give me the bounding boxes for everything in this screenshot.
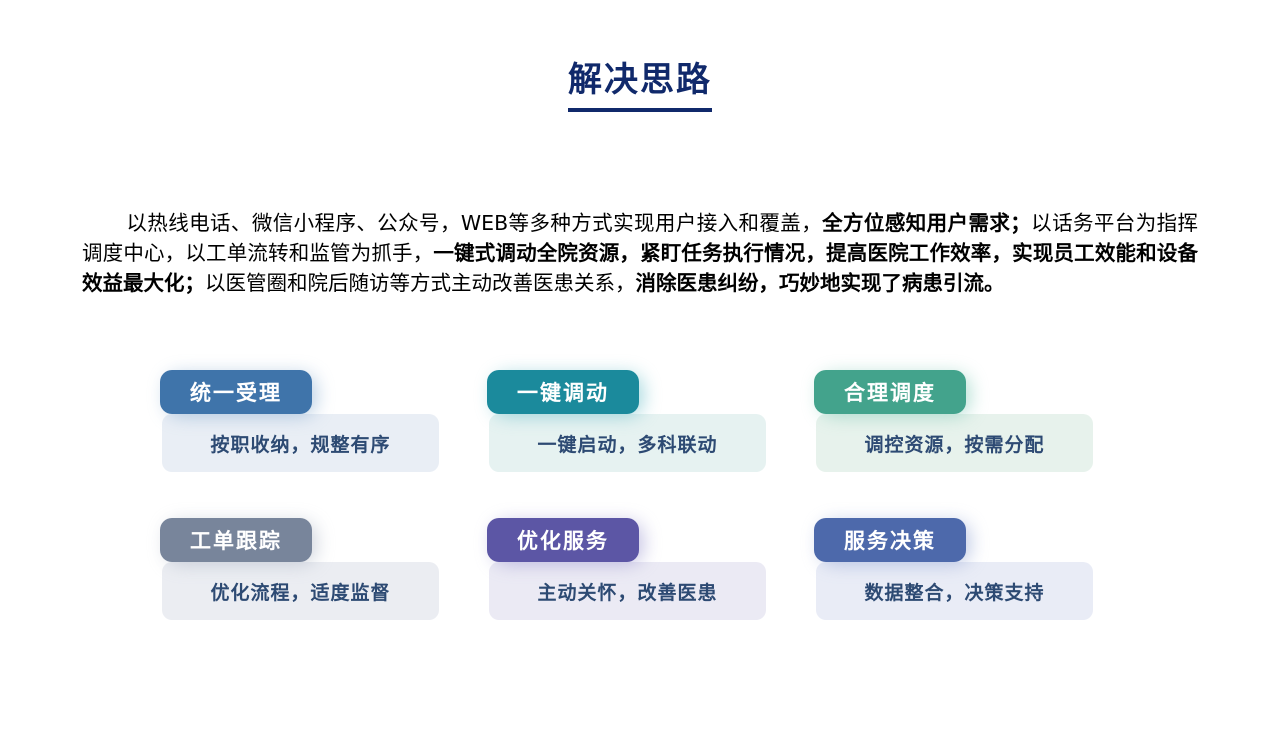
card-badge-5[interactable]: 优化服务 [487,518,639,562]
paragraph-segment: 以热线电话、微信小程序、公众号，WEB等多种方式实现用户接入和覆盖， [126,211,822,235]
card-body-label-3: 调控资源，按需分配 [864,430,1044,457]
card-row-1: 按职收纳，规整有序 统一受理 一键启动，多科联动 一键调动 调控资源，按需分配 … [160,370,1120,496]
page-title: 解决思路 [568,58,712,112]
card-badge-4[interactable]: 工单跟踪 [160,518,312,562]
card-badge-label-1: 统一受理 [190,377,282,407]
intro-paragraph: 以热线电话、微信小程序、公众号，WEB等多种方式实现用户接入和覆盖，全方位感知用… [82,208,1198,298]
card-body-6: 数据整合，决策支持 [816,562,1093,620]
card-body-5: 主动关怀，改善医患 [489,562,766,620]
paragraph-emphasis: 消除医患纠纷，巧妙地实现了病患引流。 [636,271,1005,295]
paragraph-text: 以热线电话、微信小程序、公众号，WEB等多种方式实现用户接入和覆盖，全方位感知用… [82,211,1198,295]
card-row-2: 优化流程，适度监督 工单跟踪 主动关怀，改善医患 优化服务 数据整合，决策支持 … [160,518,1120,644]
card-body-label-1: 按职收纳，规整有序 [210,430,390,457]
card-body-label-5: 主动关怀，改善医患 [537,578,717,605]
card-badge-2[interactable]: 一键调动 [487,370,639,414]
solution-card-4[interactable]: 优化流程，适度监督 工单跟踪 [160,518,439,644]
solution-card-1[interactable]: 按职收纳，规整有序 统一受理 [160,370,439,496]
card-body-label-2: 一键启动，多科联动 [537,430,717,457]
card-badge-label-3: 合理调度 [844,377,936,407]
card-body-label-4: 优化流程，适度监督 [210,578,390,605]
page-title-container: 解决思路 [0,58,1280,112]
card-badge-6[interactable]: 服务决策 [814,518,966,562]
card-badge-label-2: 一键调动 [517,377,609,407]
card-badge-label-5: 优化服务 [517,525,609,555]
paragraph-emphasis: 全方位感知用户需求； [822,211,1031,235]
card-body-3: 调控资源，按需分配 [816,414,1093,472]
card-badge-3[interactable]: 合理调度 [814,370,966,414]
solution-card-3[interactable]: 调控资源，按需分配 合理调度 [814,370,1093,496]
card-badge-label-4: 工单跟踪 [190,525,282,555]
card-body-1: 按职收纳，规整有序 [162,414,439,472]
card-body-2: 一键启动，多科联动 [489,414,766,472]
solution-card-grid: 按职收纳，规整有序 统一受理 一键启动，多科联动 一键调动 调控资源，按需分配 … [160,370,1120,644]
card-body-label-6: 数据整合，决策支持 [864,578,1044,605]
card-badge-1[interactable]: 统一受理 [160,370,312,414]
solution-card-5[interactable]: 主动关怀，改善医患 优化服务 [487,518,766,644]
solution-card-2[interactable]: 一键启动，多科联动 一键调动 [487,370,766,496]
card-badge-label-6: 服务决策 [844,525,936,555]
card-body-4: 优化流程，适度监督 [162,562,439,620]
solution-card-6[interactable]: 数据整合，决策支持 服务决策 [814,518,1093,644]
paragraph-segment: 以医管圈和院后随访等方式主动改善医患关系， [205,271,636,295]
